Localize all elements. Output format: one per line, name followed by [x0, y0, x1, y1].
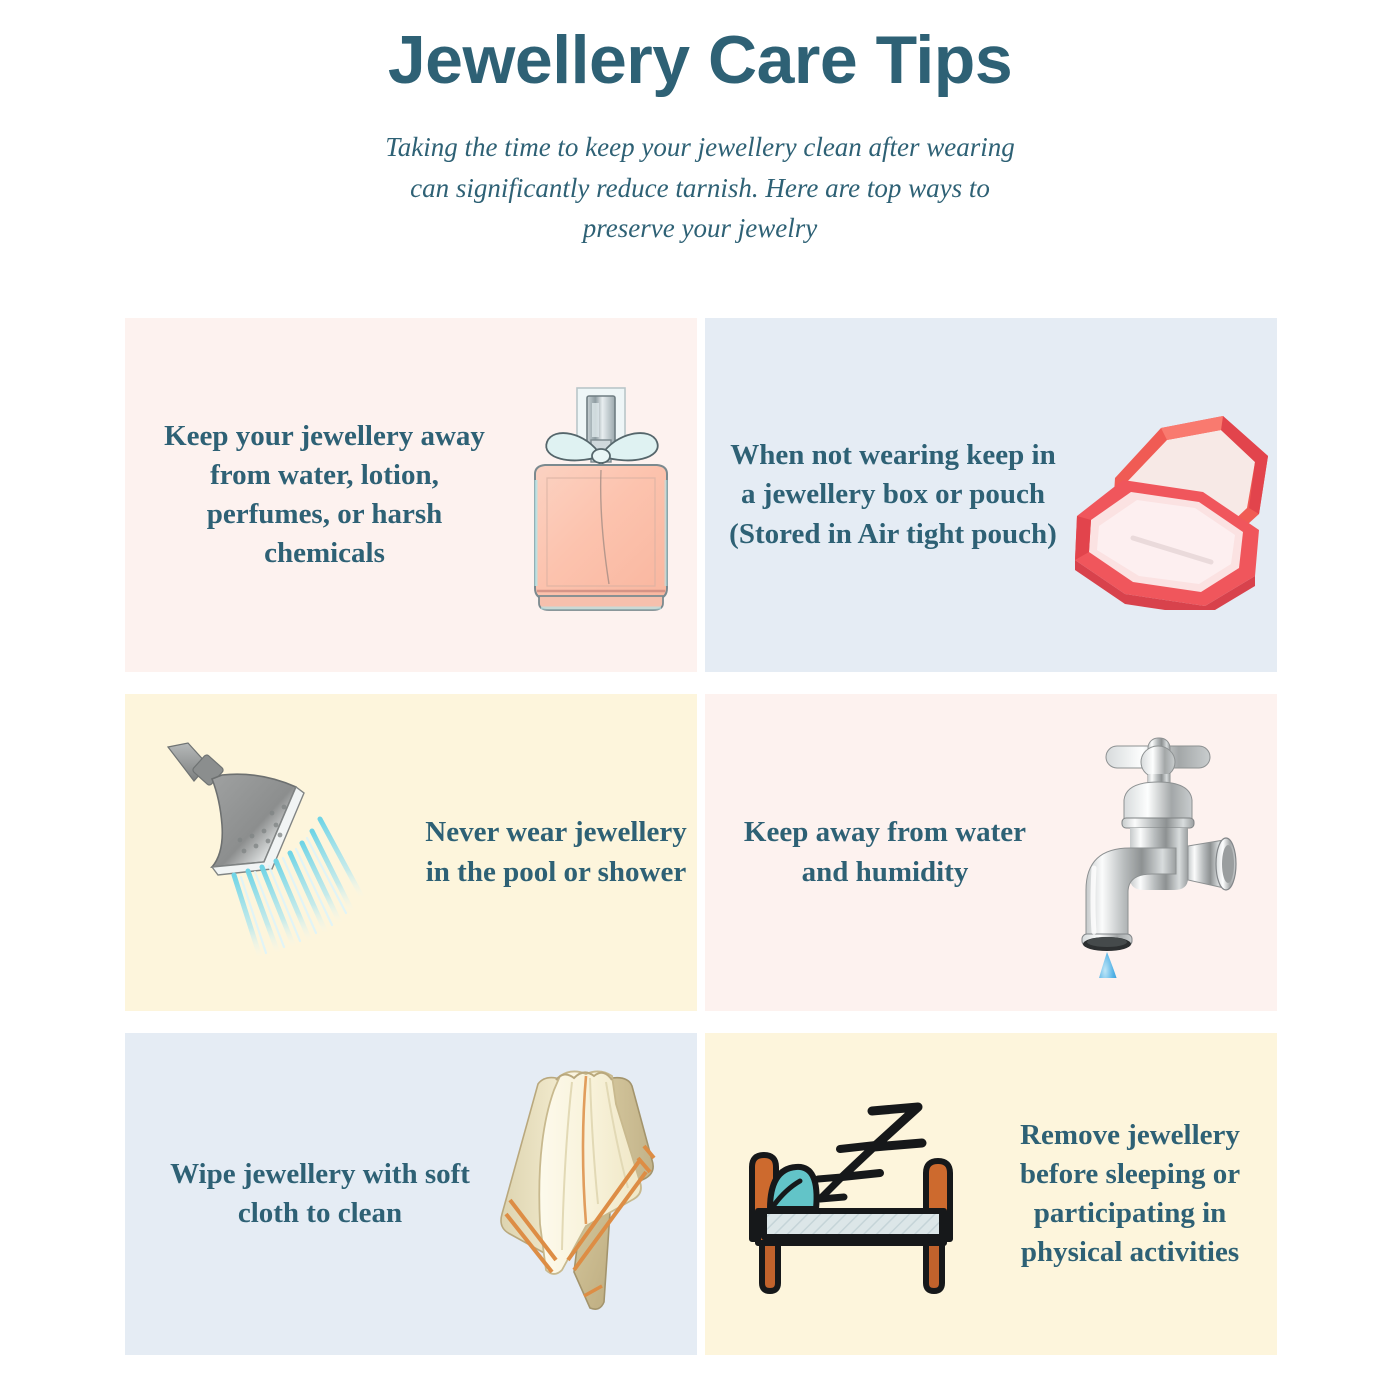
tip-card-jewellery-box-label: When not wearing keep in a jewellery box… [705, 436, 1063, 553]
tips-grid: Keep your jewellery away from water, lot… [125, 318, 1277, 1355]
tip-card-shower: Never wear jewellery in the pool or show… [125, 694, 697, 1011]
tip-card-cloth: Wipe jewellery with soft cloth to clean [125, 1033, 697, 1355]
header: Jewellery Care Tips Taking the time to k… [0, 0, 1400, 249]
tip-card-perfume-label: Keep your jewellery away from water, lot… [125, 417, 502, 574]
cleaning-cloth-icon [490, 1064, 697, 1324]
tip-card-water-label: Keep away from water and humidity [705, 813, 1035, 891]
tip-card-cloth-label: Wipe jewellery with soft cloth to clean [125, 1155, 490, 1233]
tip-card-shower-label: Never wear jewellery in the pool or show… [425, 813, 697, 891]
tip-card-sleep: Remove jewellery before sleeping or part… [705, 1033, 1277, 1355]
tip-card-perfume: Keep your jewellery away from water, lot… [125, 318, 697, 672]
tip-card-sleep-label: Remove jewellery before sleeping or part… [1005, 1116, 1277, 1273]
faucet-icon [1035, 728, 1277, 978]
tip-card-water: Keep away from water and humidity [705, 694, 1277, 1011]
infographic-page: Jewellery Care Tips Taking the time to k… [0, 0, 1400, 1400]
perfume-bottle-icon [502, 370, 697, 620]
page-subtitle: Taking the time to keep your jewellery c… [370, 127, 1030, 249]
ring-box-icon [1063, 380, 1277, 610]
bed-sleeping-icon [705, 1087, 1005, 1302]
tip-card-jewellery-box: When not wearing keep in a jewellery box… [705, 318, 1277, 672]
page-title: Jewellery Care Tips [0, 18, 1400, 103]
shower-head-icon [125, 735, 425, 970]
